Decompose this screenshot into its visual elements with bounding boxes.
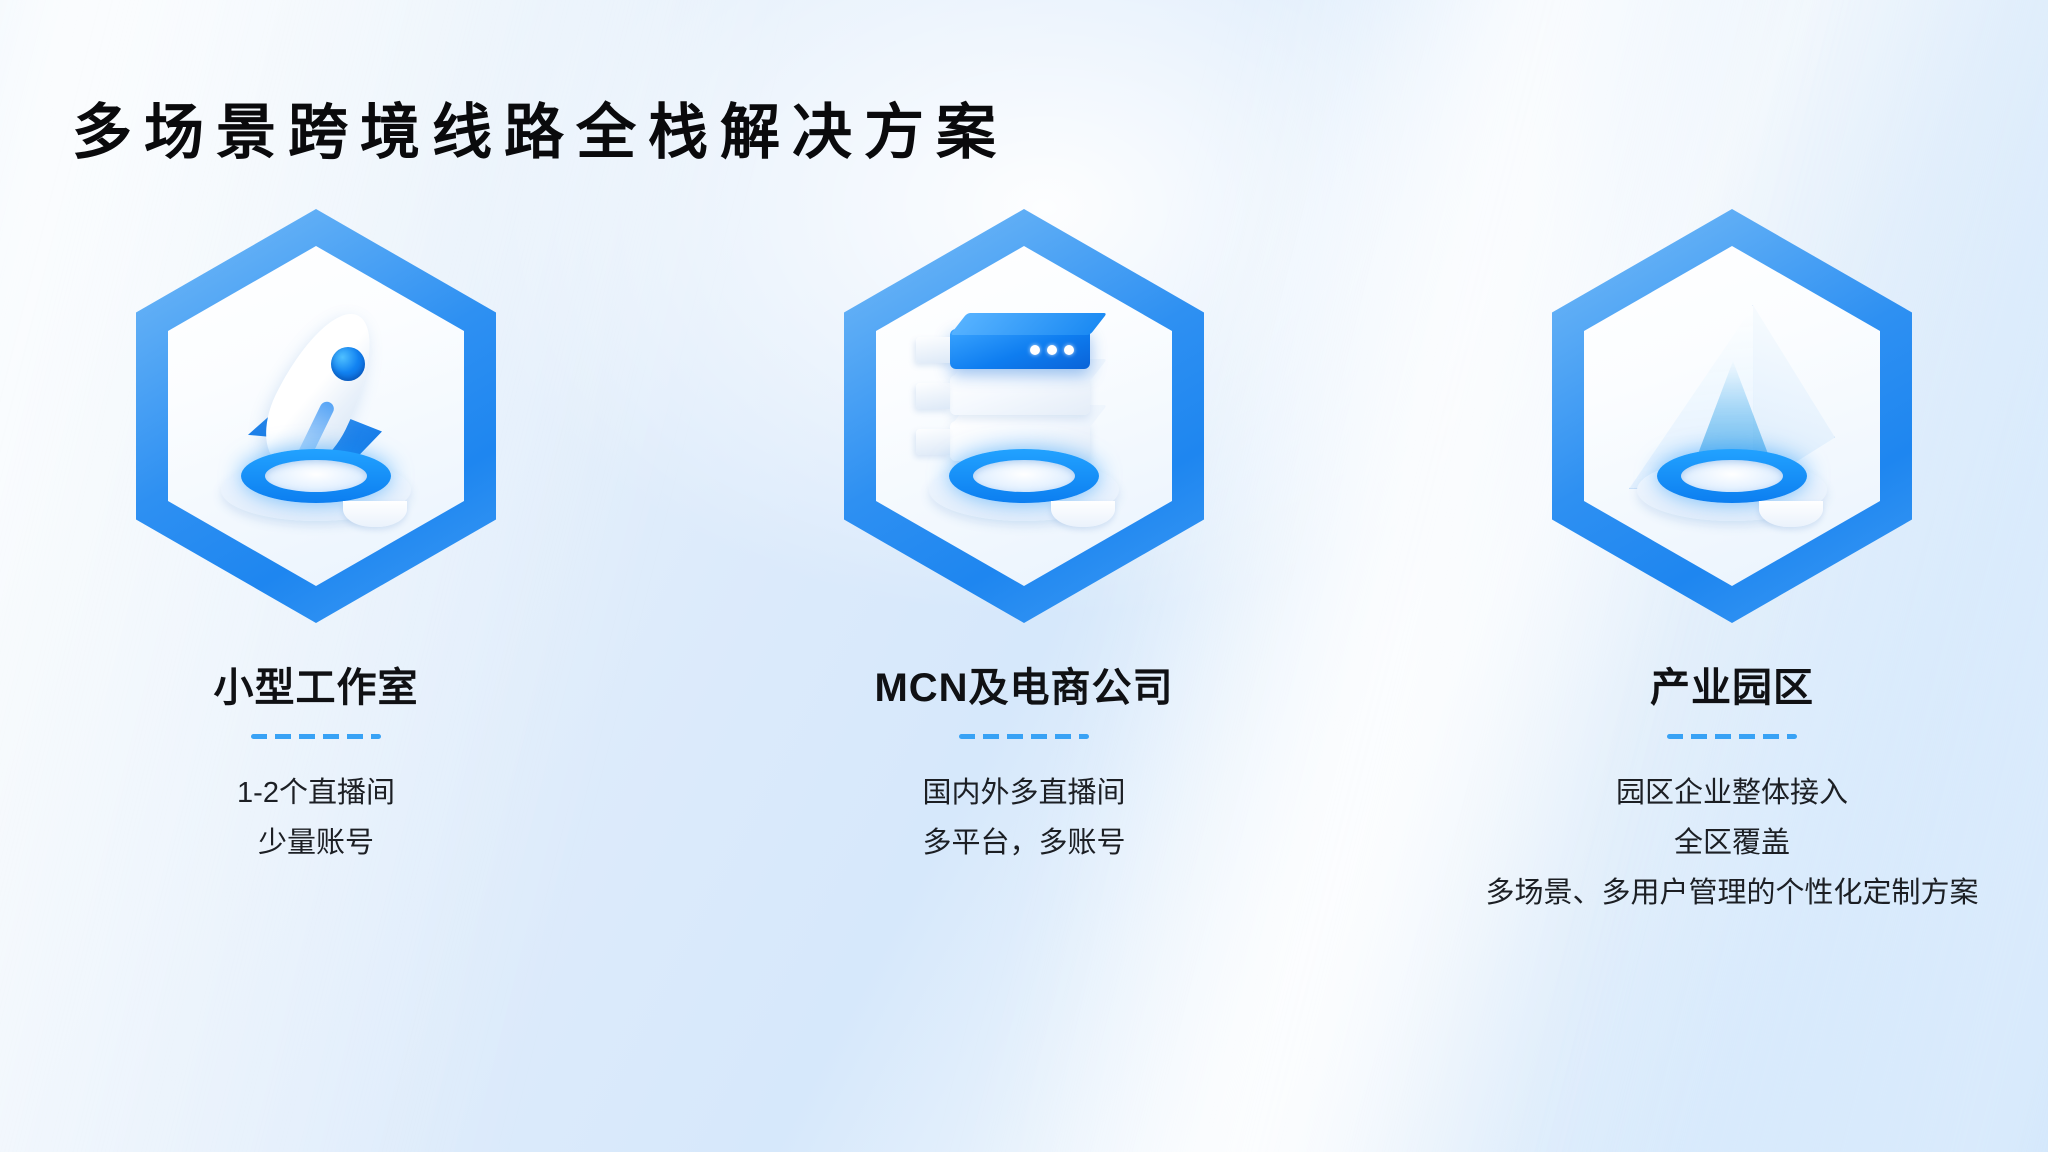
- card-description-line: 多场景、多用户管理的个性化定制方案: [1485, 869, 1978, 919]
- card-description-line: 多平台，多账号: [922, 819, 1125, 869]
- pedestal-inner-hole: [1681, 460, 1783, 492]
- hexagon-badge: [1537, 200, 1927, 632]
- card-description-line: 国内外多直播间: [922, 769, 1125, 819]
- pedestal-inner-hole: [265, 460, 367, 492]
- scenario-card-small-studio[interactable]: 小型工作室 1-2个直播间 少量账号: [66, 200, 566, 919]
- pedestal-notch: [343, 501, 407, 527]
- pedestal-notch: [1759, 501, 1823, 527]
- pedestal-inner-hole: [973, 460, 1075, 492]
- dashed-divider: [959, 734, 1089, 739]
- slide-canvas: 多场景跨境线路全栈解决方案: [0, 0, 2048, 1152]
- card-title: 小型工作室: [214, 664, 419, 712]
- card-description: 1-2个直播间 少量账号: [237, 769, 395, 869]
- status-dots: [1030, 345, 1074, 355]
- scenario-card-industrial-park[interactable]: 产业园区 园区企业整体接入 全区覆盖 多场景、多用户管理的个性化定制方案: [1482, 200, 1982, 919]
- server-layer-tab: [916, 383, 950, 409]
- glow-ring-pedestal: [1637, 449, 1827, 523]
- hexagon-badge: [121, 200, 511, 632]
- glass-pyramid-icon: [1607, 291, 1857, 541]
- rocket-icon: [191, 291, 441, 541]
- glow-ring-pedestal: [221, 449, 411, 523]
- dashed-divider: [251, 734, 381, 739]
- rocket-porthole: [331, 347, 365, 381]
- status-dot: [1047, 345, 1057, 355]
- card-description: 园区企业整体接入 全区覆盖 多场景、多用户管理的个性化定制方案: [1485, 769, 1978, 919]
- server-stack-icon: [899, 291, 1149, 541]
- card-title: MCN及电商公司: [874, 664, 1173, 712]
- scenario-card-mcn-ecommerce[interactable]: MCN及电商公司 国内外多直播间 多平台，多账号: [774, 200, 1274, 919]
- pedestal-notch: [1051, 501, 1115, 527]
- card-description-line: 少量账号: [237, 819, 395, 869]
- hexagon-badge: [829, 200, 1219, 632]
- dashed-divider: [1667, 734, 1797, 739]
- server-layer-top: [950, 329, 1090, 369]
- status-dot: [1064, 345, 1074, 355]
- card-description-line: 全区覆盖: [1485, 819, 1978, 869]
- server-layer-tab: [916, 337, 950, 363]
- server-layer-top-face: [950, 313, 1107, 335]
- glow-ring-pedestal: [929, 449, 1119, 523]
- card-description-line: 1-2个直播间: [237, 769, 395, 819]
- server-layer-middle: [950, 375, 1090, 415]
- status-dot: [1030, 345, 1040, 355]
- card-description-line: 园区企业整体接入: [1485, 769, 1978, 819]
- scenario-card-list: 小型工作室 1-2个直播间 少量账号: [0, 200, 2048, 919]
- page-title: 多场景跨境线路全栈解决方案: [72, 98, 1008, 167]
- card-title: 产业园区: [1650, 664, 1814, 712]
- card-description: 国内外多直播间 多平台，多账号: [922, 769, 1125, 869]
